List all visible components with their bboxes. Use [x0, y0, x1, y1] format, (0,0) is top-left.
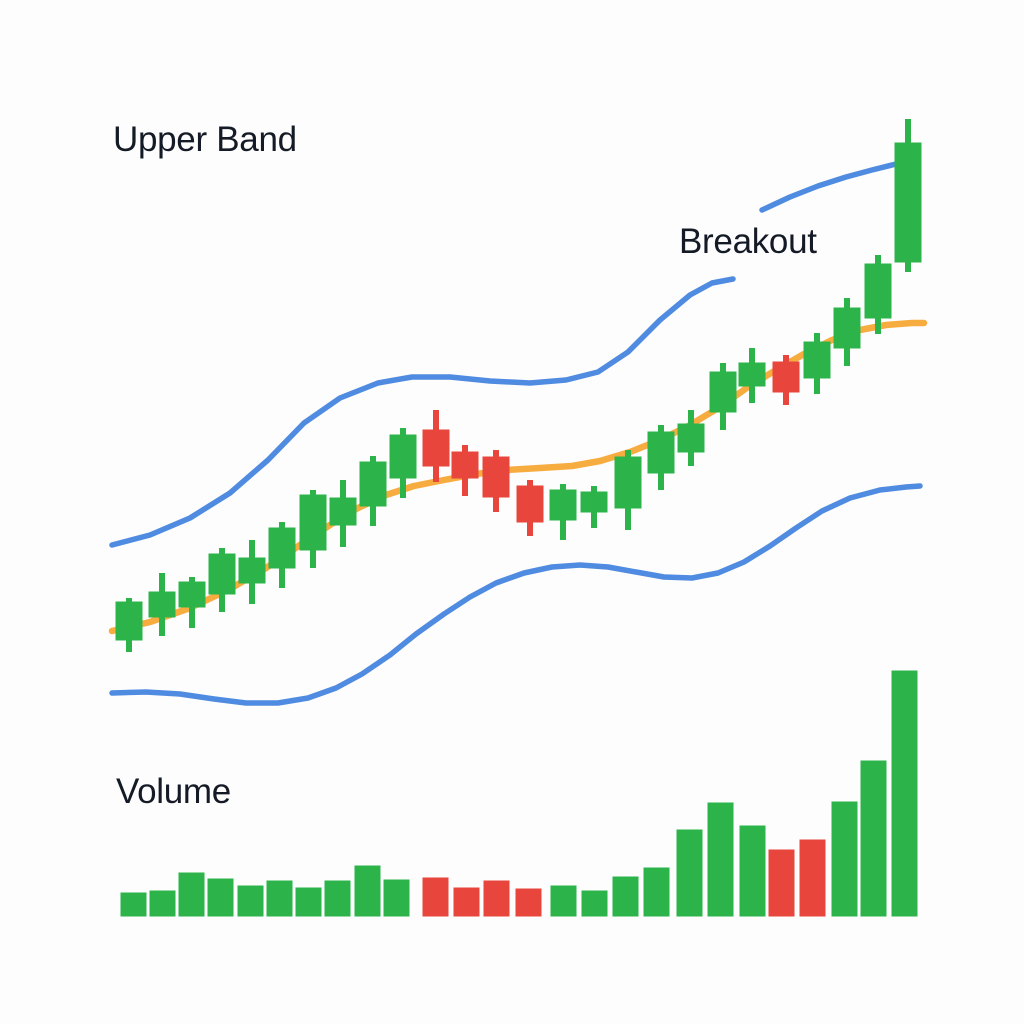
candle-body-24 — [834, 308, 860, 348]
candle-body-8 — [330, 498, 356, 525]
candle-3 — [179, 577, 205, 628]
candle-body-5 — [239, 558, 265, 583]
volume-bar-12 — [454, 888, 479, 916]
candle-6 — [269, 522, 295, 588]
candle-body-3 — [179, 582, 205, 607]
volume-bar-21 — [740, 826, 765, 916]
volume-bar-19 — [677, 830, 702, 916]
candle-body-10 — [390, 435, 416, 478]
volume-bar-6 — [267, 881, 292, 916]
candle-15 — [550, 484, 576, 540]
candle-body-13 — [483, 457, 509, 497]
volume-bar-18 — [644, 868, 669, 916]
volume-bar-14 — [516, 889, 541, 916]
upper-band-label: Upper Band — [113, 120, 297, 160]
volume-bar-24 — [832, 802, 857, 916]
candle-24 — [834, 298, 860, 366]
volume-bar-9 — [355, 866, 380, 916]
volume-bar-25 — [861, 761, 886, 916]
candle-body-22 — [773, 362, 799, 392]
candle-body-18 — [648, 432, 674, 473]
volume-bar-13 — [484, 881, 509, 916]
candle-11 — [423, 410, 449, 482]
volume-bar-2 — [150, 891, 175, 916]
volume-bar-4 — [208, 879, 233, 916]
candle-2 — [149, 573, 175, 636]
candle-body-15 — [550, 490, 576, 520]
candle-body-25 — [865, 264, 891, 318]
volume-bar-20 — [708, 803, 733, 916]
volume-bar-1 — [121, 893, 146, 916]
candle-body-1 — [116, 602, 142, 640]
candle-8 — [330, 480, 356, 547]
volume-bar-11 — [423, 878, 448, 916]
candle-13 — [483, 450, 509, 512]
volume-bar-26 — [892, 671, 917, 916]
candle-12 — [452, 445, 478, 496]
volume-bar-15 — [551, 886, 576, 916]
candle-1 — [116, 598, 142, 652]
volume-bar-7 — [296, 888, 321, 916]
upper-band-path-2 — [762, 164, 896, 210]
candle-26 — [895, 119, 921, 272]
candle-body-11 — [423, 430, 449, 466]
candle-7 — [300, 490, 326, 568]
volume-bar-5 — [238, 886, 263, 916]
candle-5 — [239, 540, 265, 604]
candle-4 — [209, 548, 235, 612]
candlestick-chart-figure: Upper Band Breakout Volume — [0, 0, 1024, 1024]
candle-body-21 — [739, 363, 765, 386]
candle-23 — [804, 333, 830, 394]
candle-body-19 — [678, 424, 704, 452]
volume-bar-23 — [800, 840, 825, 916]
candle-body-16 — [581, 492, 607, 512]
candle-body-12 — [452, 452, 478, 478]
candle-body-17 — [615, 457, 641, 508]
candle-body-4 — [209, 554, 235, 594]
candle-21 — [739, 348, 765, 403]
candle-body-14 — [517, 486, 543, 522]
candle-body-7 — [300, 495, 326, 550]
volume-label: Volume — [116, 772, 231, 812]
breakout-label: Breakout — [679, 222, 817, 262]
candle-body-23 — [804, 342, 830, 378]
volume-bar-10 — [384, 880, 409, 916]
volume-bar-17 — [613, 877, 638, 916]
candle-14 — [517, 480, 543, 536]
candle-18 — [648, 425, 674, 490]
candle-body-9 — [360, 462, 386, 506]
candle-body-6 — [269, 528, 295, 568]
candle-body-26 — [895, 143, 921, 262]
volume-bar-16 — [582, 891, 607, 916]
candle-22 — [773, 355, 799, 405]
candle-body-20 — [710, 372, 736, 412]
candle-body-2 — [149, 592, 175, 617]
volume-bar-8 — [325, 881, 350, 916]
candle-16 — [581, 486, 607, 528]
volume-bar-series — [121, 671, 917, 916]
candle-20 — [710, 363, 736, 430]
volume-bar-3 — [179, 873, 204, 916]
candle-17 — [615, 450, 641, 530]
candle-9 — [360, 456, 386, 526]
volume-bar-22 — [769, 850, 794, 916]
